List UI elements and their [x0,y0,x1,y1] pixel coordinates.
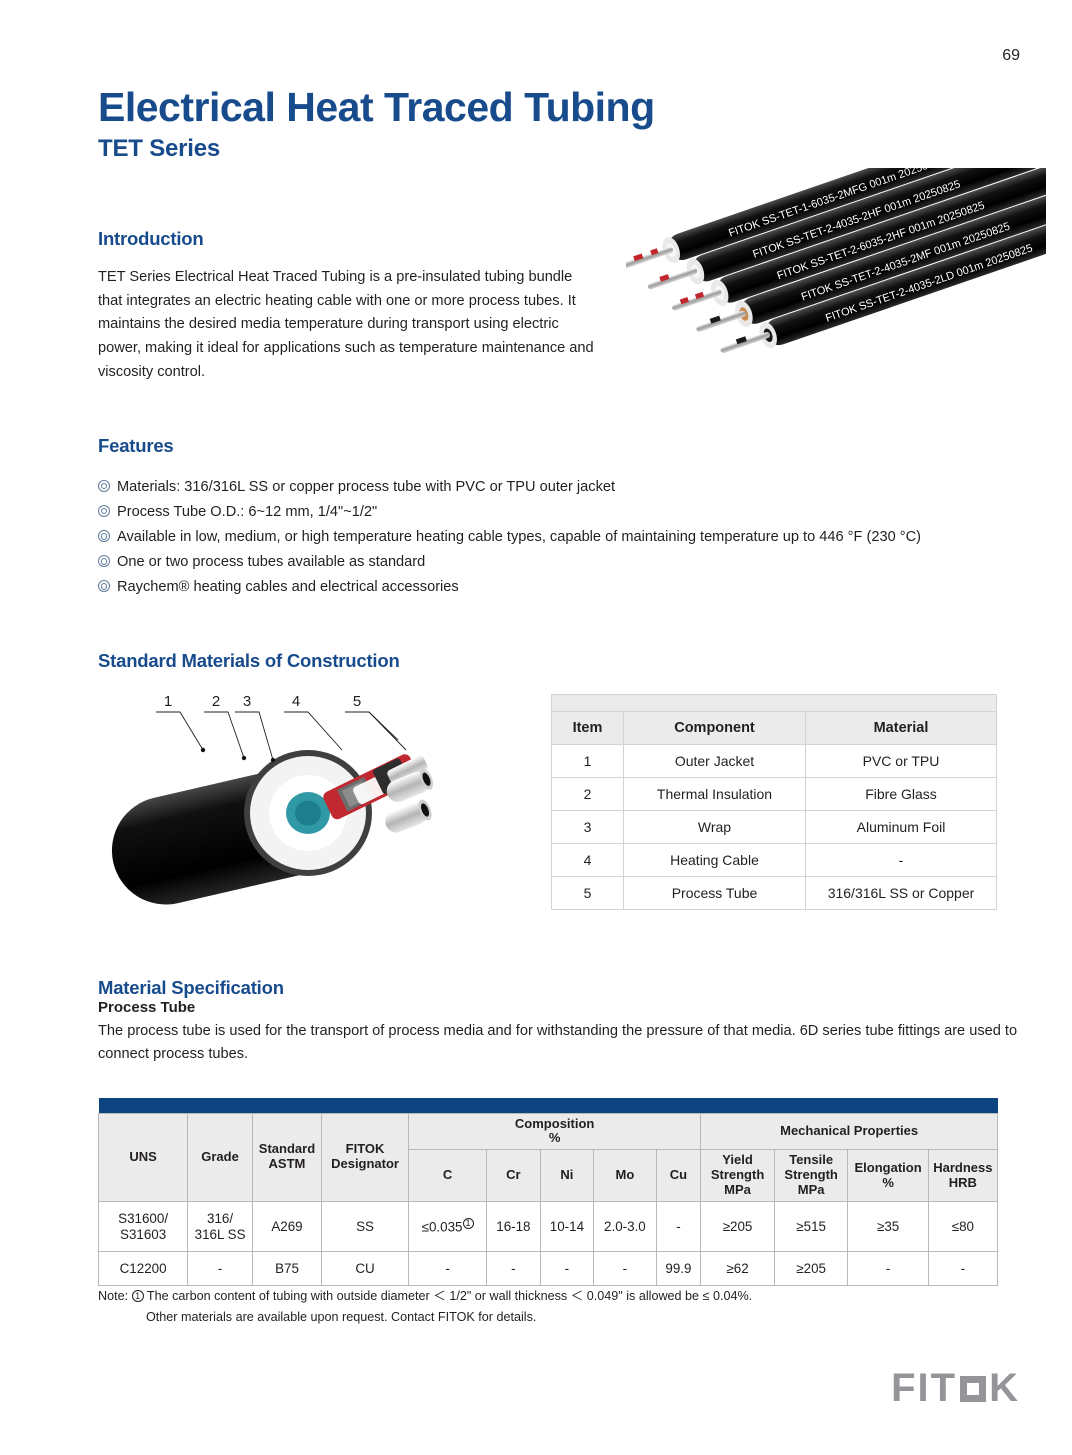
cell-cu: - [656,1202,701,1252]
cell-cr: 16-18 [487,1202,541,1252]
cell-cu: 99.9 [656,1252,701,1286]
logo-square-o-icon [960,1376,986,1402]
note-line-1: Note: 1 The carbon content of tubing wit… [98,1286,998,1307]
material-specification-section: Material Specification Process Tube The … [98,977,1018,1081]
material-specification-heading: Material Specification [98,977,1018,999]
cell-component: Wrap [624,811,806,844]
material-specification-table: UNS Grade Standard ASTM FITOK Designator… [98,1098,998,1286]
feature-label: Materials: 316/316L SS or copper process… [117,480,615,495]
cell-mo: 2.0-3.0 [594,1202,656,1252]
svg-text:3: 3 [243,693,251,710]
cutaway-diagram: 1 2 3 4 5 [98,688,528,918]
cutaway-illustration: 1 2 3 4 5 [98,688,528,918]
column-header-c: C [409,1150,487,1202]
cell-astm: A269 [252,1202,321,1252]
construction-materials-table: Item Component Material 1 Outer Jacket P… [551,694,997,910]
cell-item: 5 [552,877,624,910]
cell-material: Fibre Glass [806,778,997,811]
cell-uns: S31600/ S31603 [99,1202,188,1252]
logo-text-part1: FIT [891,1366,957,1411]
svg-text:2: 2 [212,693,220,710]
cell-tensile-strength: ≥515 [774,1202,848,1252]
table-header-row: Item Component Material [552,712,997,745]
cell-component: Process Tube [624,877,806,910]
cell-elongation: ≥35 [848,1202,928,1252]
cell-uns: C12200 [99,1252,188,1286]
cell-mo: - [594,1252,656,1286]
cell-item: 4 [552,844,624,877]
callout-numbers: 1 2 3 4 5 [164,693,361,710]
page-title: Electrical Heat Traced Tubing [98,0,1018,129]
product-photo: FITOK SS-TET-1-6035-2MFG 001m 20250825 F… [626,168,1046,368]
page-subtitle: TET Series [98,135,1018,163]
cell-material: Aluminum Foil [806,811,997,844]
product-photo-illustration: FITOK SS-TET-1-6035-2MFG 001m 20250825 F… [626,168,1046,368]
cell-tensile-strength: ≥205 [774,1252,848,1286]
column-header-standard-astm: Standard ASTM [252,1113,321,1202]
table-row: 4 Heating Cable - [552,844,997,877]
table-row: 2 Thermal Insulation Fibre Glass [552,778,997,811]
double-circle-bullet-icon [98,505,110,517]
column-header-uns: UNS [99,1113,188,1202]
column-header-fitok-designator: FITOK Designator [322,1113,409,1202]
note-marker: 1 [132,1290,144,1302]
construction-section: Standard Materials of Construction [98,650,1018,672]
introduction-body: TET Series Electrical Heat Traced Tubing… [98,266,598,384]
cell-grade: - [188,1252,253,1286]
cell-elongation: - [848,1252,928,1286]
table-row: 3 Wrap Aluminum Foil [552,811,997,844]
note-line-2: Other materials are available upon reque… [98,1307,998,1328]
cell-component: Thermal Insulation [624,778,806,811]
table-blue-bar [552,695,997,712]
footnote-marker: 1 [463,1218,474,1229]
features-heading: Features [98,435,1028,457]
column-header-ni: Ni [540,1150,594,1202]
column-header-cr: Cr [487,1150,541,1202]
table-row: 1 Outer Jacket PVC or TPU [552,745,997,778]
column-header-mo: Mo [594,1150,656,1202]
fitok-logo: FIT K [891,1366,1020,1411]
column-header-material: Material [806,712,997,745]
column-header-yield-strength: Yield Strength MPa [701,1150,775,1202]
feature-item: One or two process tubes available as st… [98,554,1028,570]
cutaway-face [244,750,372,876]
cell-component: Outer Jacket [624,745,806,778]
column-header-elongation: Elongation % [848,1150,928,1202]
note-text-1: The carbon content of tubing with outsid… [147,1289,752,1303]
cell-grade: 316/ 316L SS [188,1202,253,1252]
features-section: Features Materials: 316/316L SS or coppe… [98,435,1028,604]
note-text-2: Other materials are available upon reque… [146,1310,536,1324]
table-row: 5 Process Tube 316/316L SS or Copper [552,877,997,910]
feature-item: Raychem® heating cables and electrical a… [98,579,1028,595]
process-tube-heading: Process Tube [98,999,1018,1016]
note-label: Note: [98,1289,128,1303]
feature-label: Process Tube O.D.: 6~12 mm, 1/4"~1/2" [117,505,377,520]
column-header-cu: Cu [656,1150,701,1202]
cell-item: 3 [552,811,624,844]
introduction-heading: Introduction [98,228,598,250]
page-header: Electrical Heat Traced Tubing TET Series [98,0,1018,163]
cell-material: PVC or TPU [806,745,997,778]
cell-designator: CU [322,1252,409,1286]
column-header-item: Item [552,712,624,745]
double-circle-bullet-icon [98,530,110,542]
cell-c: - [409,1252,487,1286]
callout-leader-lines [156,712,406,760]
double-circle-bullet-icon [98,480,110,492]
cell-hardness: ≤80 [928,1202,997,1252]
process-tube-body: The process tube is used for the transpo… [98,1020,1018,1066]
feature-label: Available in low, medium, or high temper… [117,530,921,545]
cell-astm: B75 [252,1252,321,1286]
callout-dots [201,748,275,762]
feature-item: Available in low, medium, or high temper… [98,529,1028,545]
spec-table-blue-bar [99,1098,998,1113]
table-notes: Note: 1 The carbon content of tubing wit… [98,1286,998,1328]
cell-yield-strength: ≥62 [701,1252,775,1286]
spec-table-row: S31600/ S31603 316/ 316L SS A269 SS ≤0.0… [99,1202,998,1252]
group-header-composition: Composition % [409,1113,701,1150]
cell-c: ≤0.0351 [409,1202,487,1252]
cell-material: - [806,844,997,877]
column-header-grade: Grade [188,1113,253,1202]
double-circle-bullet-icon [98,580,110,592]
cell-ni: 10-14 [540,1202,594,1252]
cell-yield-strength: ≥205 [701,1202,775,1252]
svg-text:5: 5 [353,693,361,710]
cell-item: 2 [552,778,624,811]
cell-item: 1 [552,745,624,778]
cell-component: Heating Cable [624,844,806,877]
feature-label: Raychem® heating cables and electrical a… [117,580,459,595]
group-header-mechanical-properties: Mechanical Properties [701,1113,998,1150]
features-list: Materials: 316/316L SS or copper process… [98,479,1028,595]
cell-hardness: - [928,1252,997,1286]
double-circle-bullet-icon [98,555,110,567]
spec-header-row-1: UNS Grade Standard ASTM FITOK Designator… [99,1113,998,1150]
column-header-tensile-strength: Tensile Strength MPa [774,1150,848,1202]
column-header-component: Component [624,712,806,745]
cell-material: 316/316L SS or Copper [806,877,997,910]
feature-label: One or two process tubes available as st… [117,555,425,570]
svg-text:4: 4 [292,693,300,710]
cell-cr: - [487,1252,541,1286]
cell-ni: - [540,1252,594,1286]
svg-text:1: 1 [164,693,172,710]
column-header-hardness: Hardness HRB [928,1150,997,1202]
introduction-section: Introduction TET Series Electrical Heat … [98,228,598,399]
cell-designator: SS [322,1202,409,1252]
feature-item: Materials: 316/316L SS or copper process… [98,479,1028,495]
feature-item: Process Tube O.D.: 6~12 mm, 1/4"~1/2" [98,504,1028,520]
construction-heading: Standard Materials of Construction [98,650,1018,672]
spec-table-row: C12200 - B75 CU - - - - 99.9 ≥62 ≥205 - … [99,1252,998,1286]
logo-text-part2: K [989,1366,1020,1411]
